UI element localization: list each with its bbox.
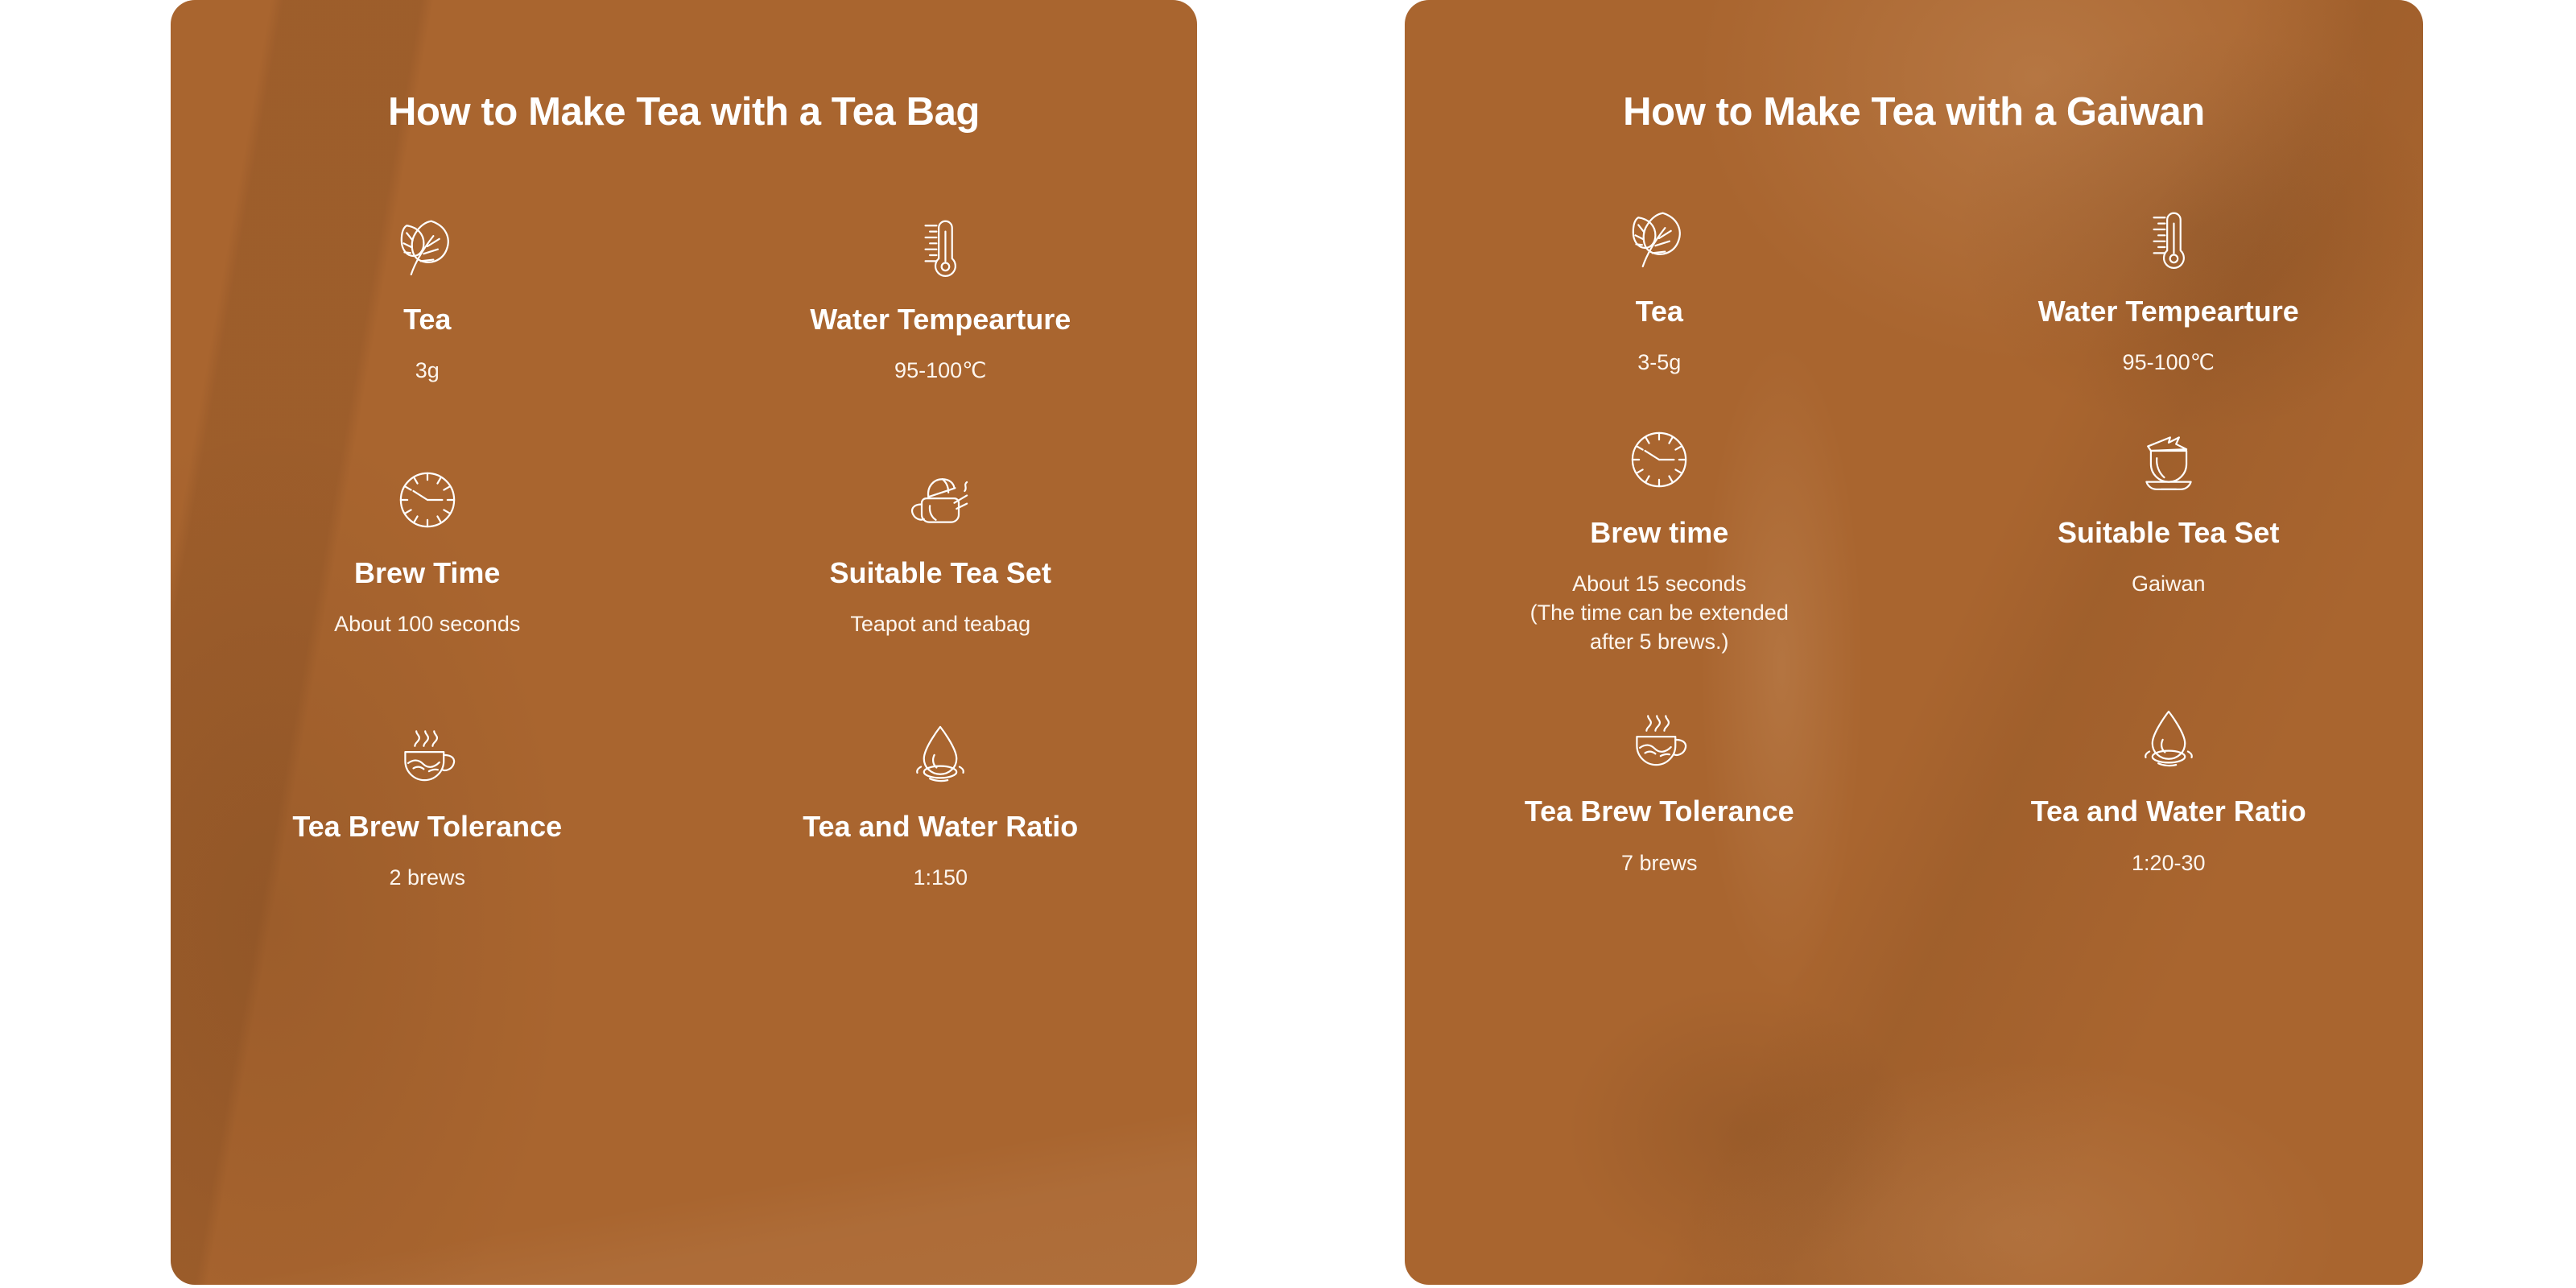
info-item-label: Water Tempearture — [2038, 295, 2299, 328]
water-drop-icon — [2132, 701, 2206, 775]
tea-bag-card: How to Make Tea with a Tea Bag — [171, 0, 1197, 1285]
info-item-value: 1:20-30 — [2132, 849, 2206, 878]
teapot-icon — [903, 463, 977, 537]
tea-bag-card-title: How to Make Tea with a Tea Bag — [171, 89, 1197, 134]
info-item-suitable-tea-set: Suitable Tea Set Teapot and teabag — [684, 463, 1198, 639]
info-item-value: 3g — [415, 357, 440, 386]
clock-icon — [1622, 423, 1696, 497]
info-item-label: Suitable Tea Set — [830, 556, 1051, 589]
info-item-label: Tea and Water Ratio — [803, 810, 1078, 843]
clock-icon — [390, 463, 464, 537]
info-item-label: Suitable Tea Set — [2058, 516, 2279, 549]
gaiwan-card-grid: Tea 3-5g — [1405, 201, 2423, 877]
info-item-value: 7 brews — [1621, 849, 1698, 878]
gaiwan-card: How to Make Tea with a Gaiwan — [1405, 0, 2423, 1285]
info-item-tea-brew-tolerance: Tea Brew Tolerance 7 brews — [1405, 701, 1914, 877]
info-item-label: Brew time — [1590, 516, 1728, 549]
info-item-value: 2 brews — [389, 864, 465, 893]
thermometer-icon — [903, 209, 977, 283]
info-item-label: Tea and Water Ratio — [2031, 795, 2306, 828]
info-item-value: 95-100℃ — [894, 357, 986, 386]
info-item-brew-time: Brew time About 15 seconds (The time can… — [1405, 423, 1914, 656]
info-item-value: Gaiwan — [2132, 570, 2206, 599]
info-item-value: 1:150 — [913, 864, 968, 893]
water-drop-icon — [903, 716, 977, 791]
info-item-tea: Tea 3-5g — [1405, 201, 1914, 378]
tea-bag-card-grid: Tea 3g — [171, 209, 1197, 893]
info-item-water-temperature: Water Tempearture 95-100℃ — [1914, 201, 2424, 378]
info-item-tea-water-ratio: Tea and Water Ratio 1:20-30 — [1914, 701, 2424, 877]
page-root: How to Make Tea with a Tea Bag — [0, 0, 2576, 1288]
steaming-cup-icon — [1622, 701, 1696, 775]
info-item-label: Water Tempearture — [810, 303, 1071, 336]
info-item-brew-time: Brew Time About 100 seconds — [171, 463, 684, 639]
info-item-tea-brew-tolerance: Tea Brew Tolerance 2 brews — [171, 716, 684, 893]
info-item-tea-water-ratio: Tea and Water Ratio 1:150 — [684, 716, 1198, 893]
info-item-water-temperature: Water Tempearture 95-100℃ — [684, 209, 1198, 386]
info-item-value: About 100 seconds — [334, 610, 520, 639]
info-item-label: Tea — [1636, 295, 1683, 328]
thermometer-icon — [2132, 201, 2206, 275]
info-item-value: 95-100℃ — [2123, 349, 2215, 378]
info-item-value: Teapot and teabag — [850, 610, 1030, 639]
info-item-label: Tea — [403, 303, 451, 336]
info-item-label: Tea Brew Tolerance — [292, 810, 562, 843]
info-item-label: Tea Brew Tolerance — [1525, 795, 1794, 828]
info-item-value: 3-5g — [1637, 349, 1681, 378]
info-item-label: Brew Time — [354, 556, 500, 589]
gaiwan-card-title: How to Make Tea with a Gaiwan — [1405, 89, 2423, 134]
tea-leaves-icon — [1622, 201, 1696, 275]
info-item-tea: Tea 3g — [171, 209, 684, 386]
info-item-value: About 15 seconds (The time can be extend… — [1530, 570, 1789, 656]
info-item-suitable-tea-set: Suitable Tea Set Gaiwan — [1914, 423, 2424, 656]
tea-leaves-icon — [390, 209, 464, 283]
steaming-cup-icon — [390, 716, 464, 791]
gaiwan-icon — [2132, 423, 2206, 497]
